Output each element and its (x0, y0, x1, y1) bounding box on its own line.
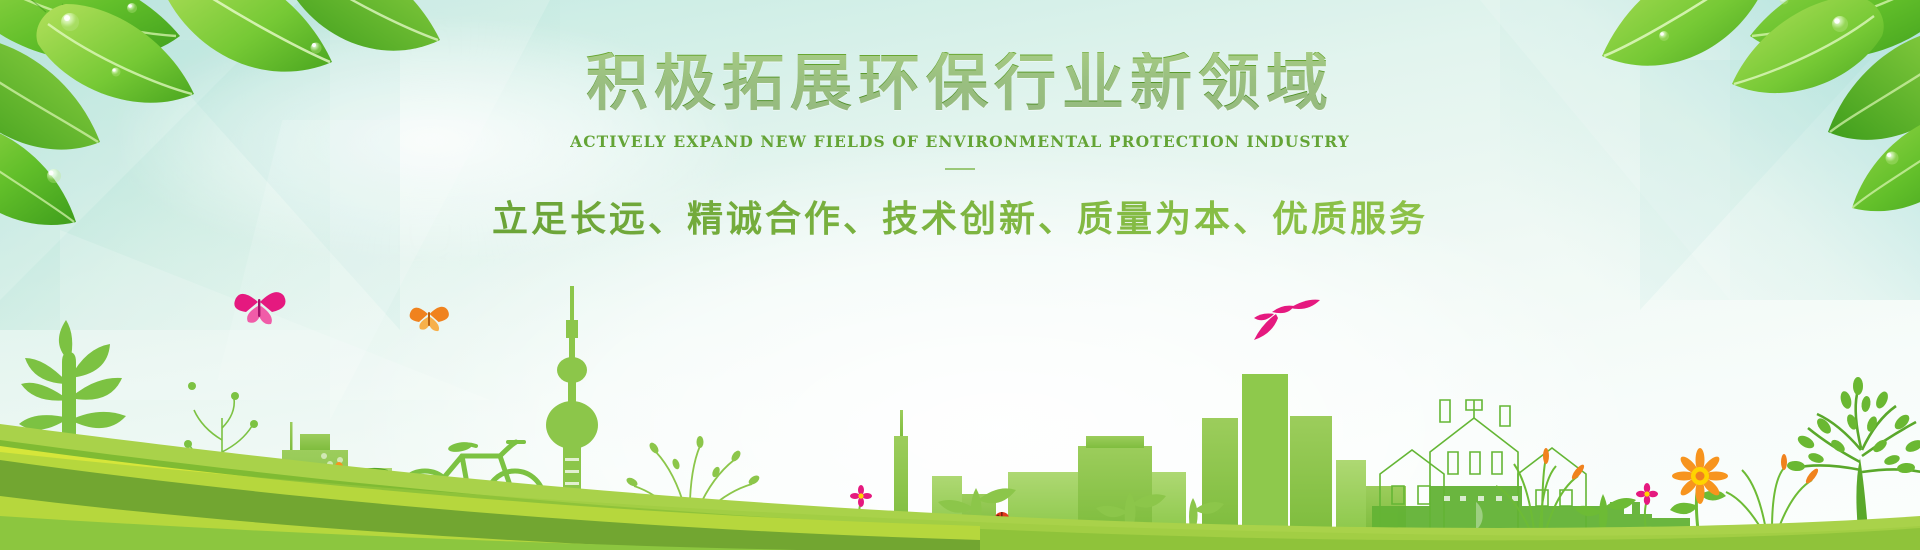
water-droplet (47, 169, 61, 183)
water-droplet (311, 43, 322, 54)
insect-layer (0, 250, 1920, 550)
water-droplet (127, 3, 137, 13)
divider-rule (945, 168, 975, 170)
water-droplet (112, 68, 121, 77)
leaf-shape (1602, 0, 1762, 66)
leaves-top-left (0, 0, 450, 230)
water-droplet (1659, 31, 1669, 41)
eco-banner: 积极拓展环保行业新领域 ACTIVELY EXPAND NEW FIELDS O… (0, 0, 1920, 550)
butterfly-pink (234, 292, 285, 324)
butterfly-orange (410, 307, 449, 331)
water-droplet (1832, 16, 1848, 32)
water-droplet (1886, 152, 1899, 165)
leaves-top-right (1540, 0, 1920, 200)
water-droplet (61, 13, 79, 31)
